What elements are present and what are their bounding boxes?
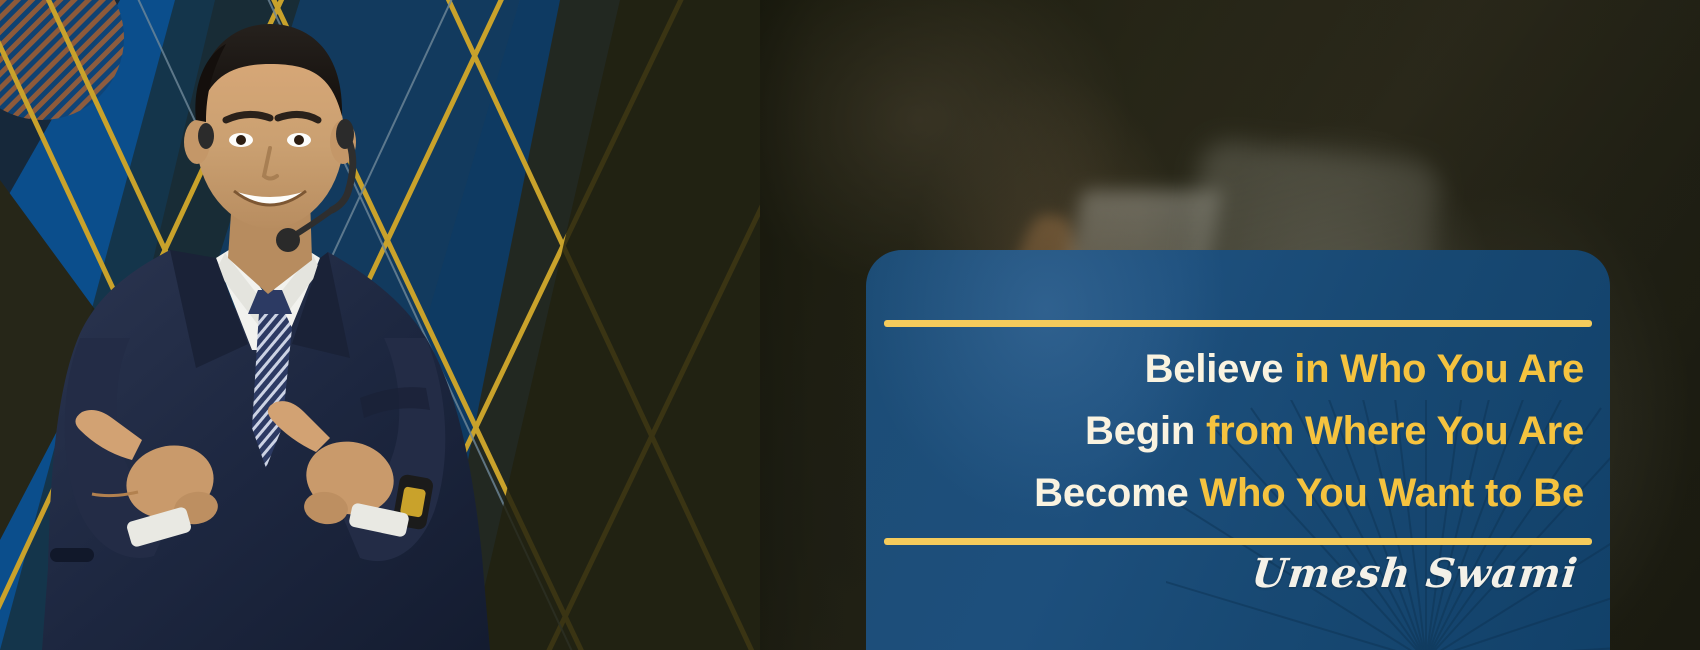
- quote-line-3: Become Who You Want to Be: [1034, 472, 1584, 514]
- gold-rule-top: [884, 320, 1592, 327]
- promo-banner: Believe in Who You Are Begin from Where …: [0, 0, 1700, 650]
- speaker-portrait: [20, 8, 520, 650]
- quote-panel: Believe in Who You Are Begin from Where …: [866, 250, 1610, 650]
- quote-line-1-rest: in Who You Are: [1283, 347, 1584, 391]
- quote-line-2: Begin from Where You Are: [1085, 410, 1584, 452]
- quote-line-2-rest: from Where You Are: [1195, 409, 1584, 453]
- quote-line-3-lead: Become: [1034, 471, 1188, 515]
- gold-rule-bottom: [884, 538, 1592, 545]
- quote-line-1-lead: Believe: [1145, 347, 1284, 391]
- quote-line-1: Believe in Who You Are: [1145, 348, 1584, 390]
- quote-line-3-rest: Who You Want to Be: [1189, 471, 1584, 515]
- signature-umesh-swami: Umesh Swami: [1250, 550, 1581, 597]
- quote-lines: Believe in Who You Are Begin from Where …: [866, 328, 1610, 534]
- quote-line-2-lead: Begin: [1085, 409, 1195, 453]
